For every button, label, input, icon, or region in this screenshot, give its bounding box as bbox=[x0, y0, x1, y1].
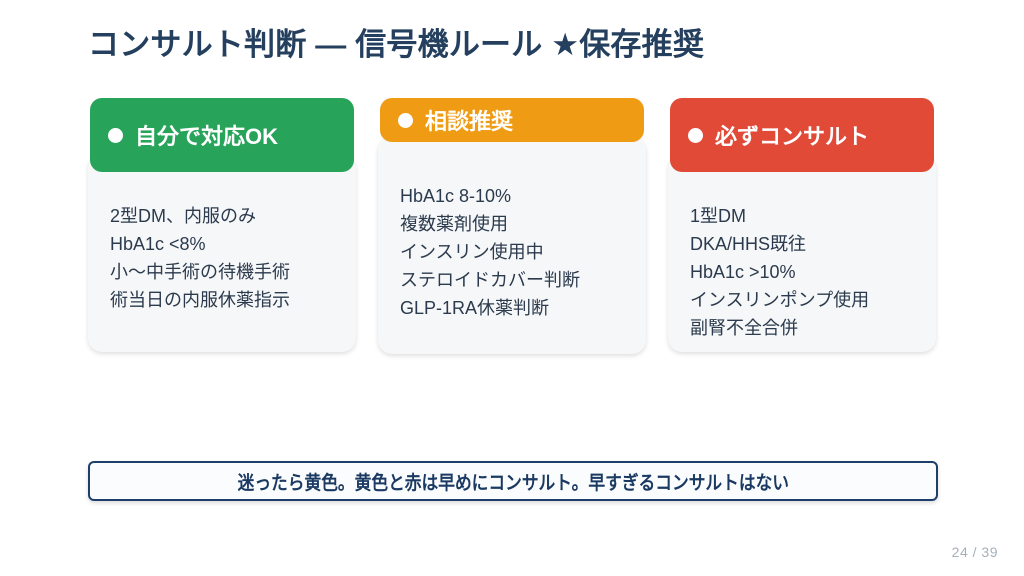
filled-circle-icon bbox=[108, 128, 123, 143]
card-header-consult-recommended: 相談推奨 bbox=[380, 98, 644, 142]
card-must-consult: 必ずコンサルト 1型DM DKA/HHS既往 HbA1c >10% インスリンポ… bbox=[668, 96, 936, 362]
card-line: 小〜中手術の待機手術 bbox=[110, 258, 334, 286]
card-line: 術当日の内服休薬指示 bbox=[110, 286, 334, 314]
page-indicator: 24 / 39 bbox=[952, 544, 998, 560]
card-line: 複数薬剤使用 bbox=[400, 210, 624, 238]
card-line: HbA1c 8-10% bbox=[400, 182, 624, 210]
card-line: インスリンポンプ使用 bbox=[690, 286, 914, 314]
card-line: DKA/HHS既往 bbox=[690, 230, 914, 258]
card-line: ステロイドカバー判断 bbox=[400, 266, 624, 294]
card-line: 副腎不全合併 bbox=[690, 314, 914, 342]
card-header-label-self-manage: 自分で対応OK bbox=[135, 119, 278, 151]
card-header-label-consult-recommended: 相談推奨 bbox=[425, 104, 513, 136]
slide-canvas: コンサルト判断 — 信号機ルール ★保存推奨 自分で対応OK 2型DM、内服のみ… bbox=[0, 0, 1024, 576]
key-message-text: 迷ったら黄色。黄色と赤は早めにコンサルト。早すぎるコンサルトはない bbox=[237, 468, 788, 495]
card-header-must-consult: 必ずコンサルト bbox=[670, 98, 934, 172]
card-line: HbA1c <8% bbox=[110, 230, 334, 258]
card-line: 2型DM、内服のみ bbox=[110, 202, 334, 230]
card-body-must-consult: 1型DM DKA/HHS既往 HbA1c >10% インスリンポンプ使用 副腎不… bbox=[668, 154, 936, 352]
card-self-manage: 自分で対応OK 2型DM、内服のみ HbA1c <8% 小〜中手術の待機手術 術… bbox=[88, 96, 356, 362]
page-title: コンサルト判断 — 信号機ルール ★保存推奨 bbox=[88, 26, 704, 65]
card-body-consult-recommended: HbA1c 8-10% 複数薬剤使用 インスリン使用中 ステロイドカバー判断 G… bbox=[378, 136, 646, 354]
card-line: 1型DM bbox=[690, 202, 914, 230]
key-message-banner: 迷ったら黄色。黄色と赤は早めにコンサルト。早すぎるコンサルトはない bbox=[88, 461, 938, 501]
card-header-label-must-consult: 必ずコンサルト bbox=[715, 119, 869, 151]
traffic-light-card-group: 自分で対応OK 2型DM、内服のみ HbA1c <8% 小〜中手術の待機手術 術… bbox=[88, 96, 938, 362]
card-consult-recommended: 相談推奨 HbA1c 8-10% 複数薬剤使用 インスリン使用中 ステロイドカバ… bbox=[378, 96, 646, 362]
filled-circle-icon bbox=[398, 113, 413, 128]
card-line: インスリン使用中 bbox=[400, 238, 624, 266]
card-line: GLP-1RA休薬判断 bbox=[400, 294, 624, 322]
card-body-self-manage: 2型DM、内服のみ HbA1c <8% 小〜中手術の待機手術 術当日の内服休薬指… bbox=[88, 154, 356, 352]
card-header-self-manage: 自分で対応OK bbox=[90, 98, 354, 172]
card-line: HbA1c >10% bbox=[690, 258, 914, 286]
filled-circle-icon bbox=[688, 128, 703, 143]
